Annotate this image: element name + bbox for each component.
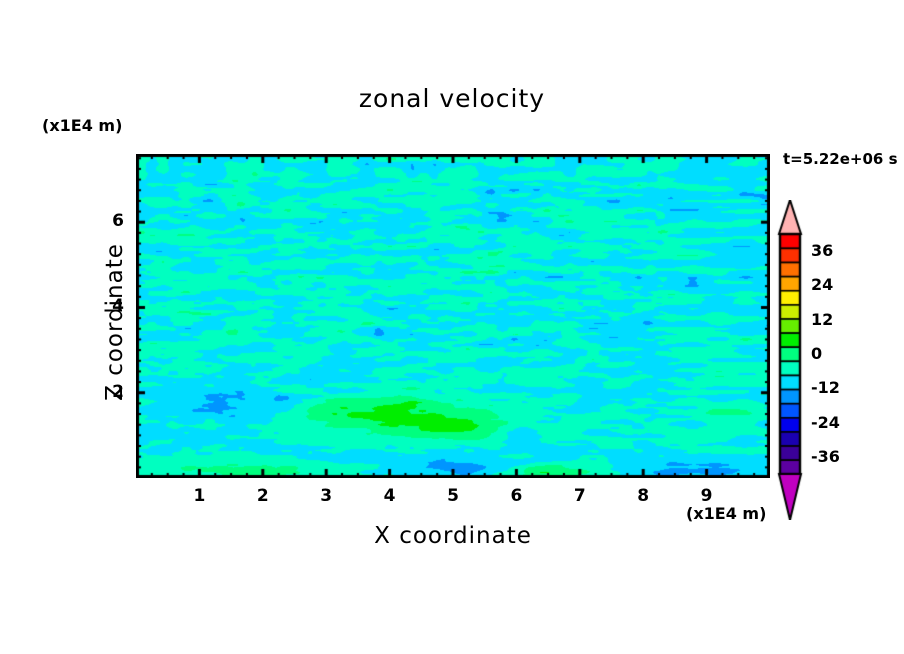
colorbar-tick-label: 24 (811, 275, 833, 294)
contour-figure: zonal velocity (x1E4 m) t=5.22e+06 s 123… (0, 0, 904, 654)
contour-plot-area (136, 154, 770, 478)
x-tick-label: 9 (687, 486, 727, 506)
x-tick-label: 5 (433, 486, 473, 506)
x-tick-label: 4 (370, 486, 410, 506)
x-tick-label: 3 (306, 486, 346, 506)
x-axis-title: X coordinate (136, 523, 770, 549)
x-tick-label: 8 (623, 486, 663, 506)
timestamp-label: t=5.22e+06 s (783, 150, 898, 168)
colorbar-tick-label: -24 (811, 413, 840, 432)
x-tick-label: 7 (560, 486, 600, 506)
colorbar-tick-label: 12 (811, 310, 833, 329)
x-tick-label: 1 (179, 486, 219, 506)
y-axis-unit-label: (x1E4 m) (42, 116, 122, 135)
colorbar (772, 200, 808, 520)
colorbar-tick-label: -36 (811, 447, 840, 466)
colorbar-tick-label: 0 (811, 344, 822, 363)
x-tick-label: 6 (496, 486, 536, 506)
y-axis-title: Z coordinate (102, 160, 128, 484)
colorbar-tick-label: 36 (811, 241, 833, 260)
x-axis-unit-label: (x1E4 m) (686, 504, 766, 523)
page-title: zonal velocity (0, 84, 904, 113)
colorbar-tick-label: -12 (811, 378, 840, 397)
x-tick-label: 2 (243, 486, 283, 506)
